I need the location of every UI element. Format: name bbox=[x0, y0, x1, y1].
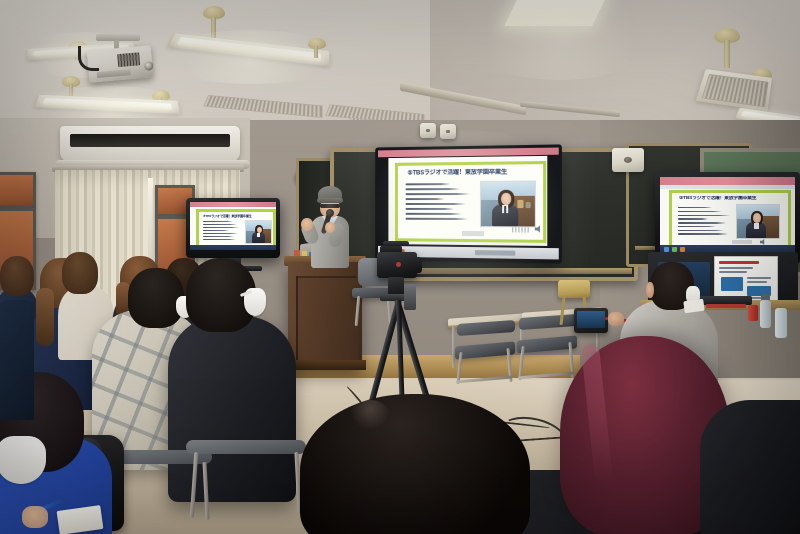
tripod-head bbox=[388, 277, 404, 295]
slide-frame: ⑤TBSラジオで活躍！東放学園卒業生 bbox=[395, 161, 546, 243]
audience-member-head bbox=[62, 252, 98, 294]
podium-front-panel bbox=[296, 276, 358, 364]
audience-member-hair bbox=[36, 288, 54, 346]
podium-base bbox=[284, 360, 366, 370]
slide-photo bbox=[480, 181, 536, 228]
light-stem bbox=[724, 40, 730, 68]
wall-speaker bbox=[420, 123, 436, 138]
wall-speaker bbox=[440, 124, 456, 139]
microphone-head bbox=[326, 209, 334, 217]
presenter bbox=[303, 186, 357, 268]
wall-speaker bbox=[612, 148, 644, 172]
audience-member-head-foreground bbox=[300, 394, 530, 534]
left-monitor-slide-photo bbox=[245, 220, 272, 244]
operator-hand bbox=[608, 312, 624, 326]
presenter-right-hand bbox=[301, 218, 313, 231]
tripod-pan-handle[interactable] bbox=[404, 284, 416, 310]
bulletin-board bbox=[0, 172, 36, 208]
light-stem bbox=[314, 46, 318, 58]
audience-member-hand bbox=[22, 506, 48, 528]
right-monitor-slide-photo bbox=[736, 204, 780, 239]
audience-member-shoulder bbox=[0, 300, 34, 420]
audience-member-head bbox=[0, 256, 34, 296]
slide-progress-bar[interactable] bbox=[462, 231, 484, 236]
folding-chair-back[interactable] bbox=[186, 440, 306, 454]
av-operator-ear bbox=[646, 282, 654, 298]
presenter-left-hand bbox=[325, 222, 335, 233]
presenter-beanie-brim bbox=[317, 198, 343, 203]
right-slide-progress-bar[interactable] bbox=[732, 240, 752, 244]
right-monitor-screen: ⑤TBSラジオで活躍！東放学園卒業生 bbox=[660, 177, 795, 253]
ceiling-skylight bbox=[504, 0, 608, 26]
camera-record-light bbox=[396, 262, 401, 267]
audience-member-shoulder bbox=[700, 400, 800, 534]
left-monitor[interactable]: ⑤TBSラジオで活躍！東放学園卒業生 bbox=[186, 198, 280, 258]
light-stem bbox=[69, 84, 73, 96]
wooden-stool bbox=[558, 280, 590, 298]
glasses-icon bbox=[320, 204, 340, 208]
field-monitor-screen bbox=[577, 311, 605, 328]
right-monitor-slide-body bbox=[678, 207, 732, 235]
audience-member-head bbox=[128, 268, 184, 328]
air-conditioner-vent bbox=[70, 134, 230, 147]
right-monitor-slide-frame: ⑤TBSラジオで活躍！東放学園卒業生 bbox=[669, 190, 791, 249]
water-bottle bbox=[775, 308, 787, 338]
right-monitor[interactable]: ⑤TBSラジオで活躍！東放学園卒業生 bbox=[655, 172, 800, 264]
notebook bbox=[57, 505, 104, 534]
classroom-photo: ⑤TBSラジオで活躍！東放学園卒業生 bbox=[0, 0, 800, 534]
slide-title: ⑤TBSラジオで活躍！東放学園卒業生 bbox=[407, 168, 534, 177]
beverage-can bbox=[748, 305, 758, 321]
slide-body bbox=[406, 183, 474, 220]
hair-highlight bbox=[350, 400, 390, 430]
right-monitor-slide-title: ⑤TBSラジオで活躍！東放学園卒業生 bbox=[679, 196, 781, 202]
speaker-icon bbox=[535, 225, 542, 232]
left-monitor-slide-title: ⑤TBSラジオで活躍！東放学園卒業生 bbox=[203, 214, 269, 218]
screen-slide-page: ⑤TBSラジオで活躍！東放学園卒業生 bbox=[388, 156, 547, 246]
audience-member-black-shirt bbox=[168, 316, 296, 502]
slide-video-controls[interactable] bbox=[512, 227, 530, 232]
av-cable-red bbox=[706, 304, 746, 308]
camera-lens bbox=[406, 257, 422, 273]
spray-bottle bbox=[760, 300, 771, 328]
left-monitor-screen: ⑤TBSラジオで活躍！東放学園卒業生 bbox=[190, 202, 276, 250]
